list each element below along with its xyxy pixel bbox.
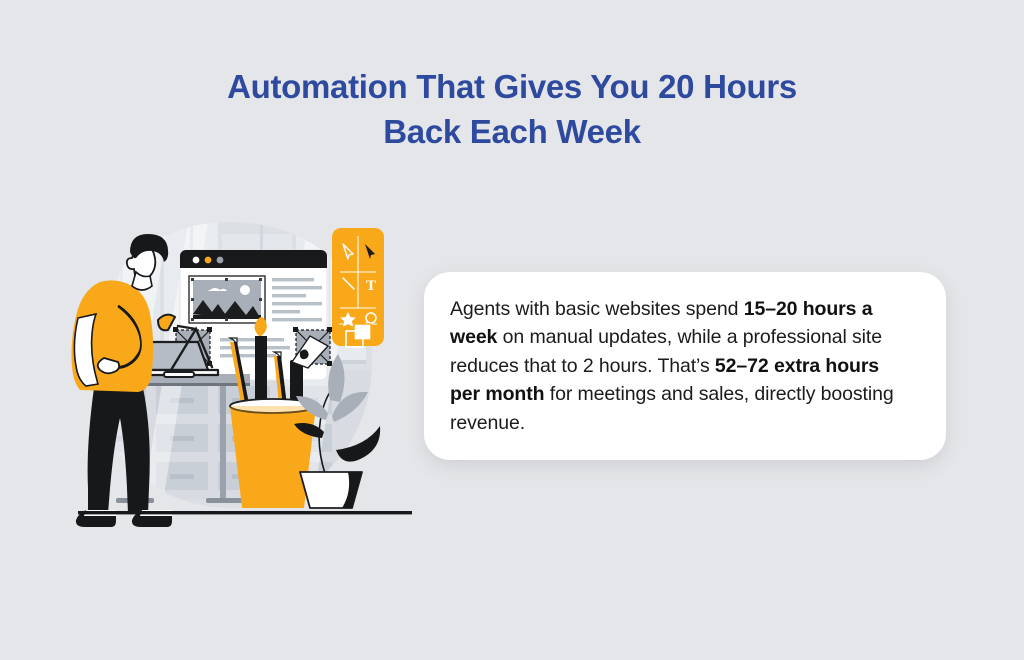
text-tool-icon: T bbox=[366, 278, 376, 294]
browser-dot-white bbox=[193, 257, 200, 264]
page-title-line-2: Back Each Week bbox=[0, 109, 1024, 154]
hero-illustration: T bbox=[60, 210, 420, 530]
browser-dot-orange bbox=[205, 257, 212, 264]
browser-image-placeholder bbox=[189, 276, 265, 323]
browser-title-bar bbox=[180, 250, 327, 268]
page-title-line-1: Automation That Gives You 20 Hours bbox=[227, 68, 797, 105]
floor-line bbox=[78, 511, 412, 514]
stat-card: Agents with basic websites spend 15–20 h… bbox=[424, 272, 946, 460]
stat-card-paragraph: Agents with basic websites spend 15–20 h… bbox=[424, 295, 946, 438]
browser-dot-gray bbox=[217, 257, 224, 264]
svg-text:T: T bbox=[366, 278, 376, 294]
poster-canvas: Automation That Gives You 20 Hours Back … bbox=[0, 0, 1024, 660]
paragraph-part-1: Agents with basic websites spend bbox=[450, 298, 744, 320]
page-title: Automation That Gives You 20 Hours Back … bbox=[0, 64, 1024, 154]
design-toolbar-panel: T bbox=[332, 228, 384, 347]
